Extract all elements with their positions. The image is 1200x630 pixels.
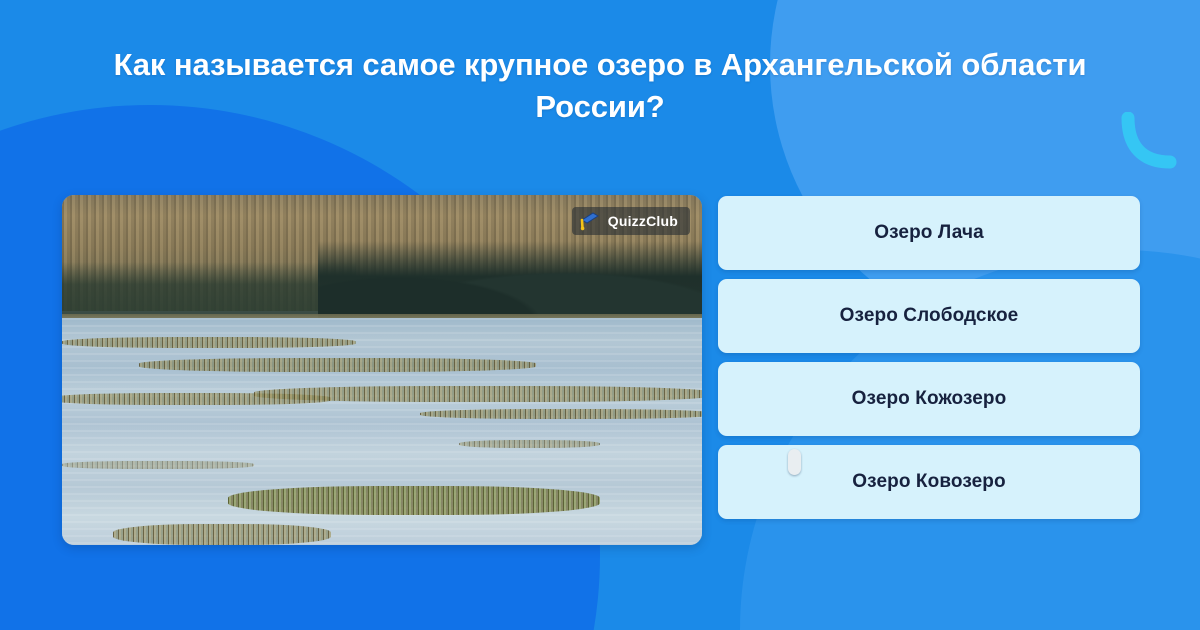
answer-options-list: Озеро Лача Озеро Слободское Озеро Кожозе… xyxy=(718,196,1140,519)
reed-band-foreground xyxy=(113,524,331,545)
reed-band xyxy=(62,461,254,469)
answer-option-4-label: Озеро Ковозеро xyxy=(852,471,1005,493)
conifer-headland xyxy=(318,241,702,325)
reed-band xyxy=(62,337,356,348)
reed-band-foreground xyxy=(228,486,599,516)
answer-option-1-label: Озеро Лача xyxy=(874,222,984,244)
reed-band xyxy=(254,386,702,402)
reed-band xyxy=(459,440,600,448)
conifer-band-left xyxy=(62,262,356,318)
quiz-card: Как называется самое крупное озеро в Арх… xyxy=(0,0,1200,630)
question-title: Как называется самое крупное озеро в Арх… xyxy=(110,44,1090,128)
question-image-card: QuizzClub xyxy=(62,195,702,545)
answer-option-1[interactable]: Озеро Лача xyxy=(718,196,1140,270)
question-header: Как называется самое крупное озеро в Арх… xyxy=(0,44,1200,128)
cursor-pointer-indicator xyxy=(788,449,801,475)
reed-band xyxy=(420,409,702,420)
watermark: QuizzClub xyxy=(572,207,690,235)
graduation-cap-icon xyxy=(578,211,600,231)
reed-band xyxy=(139,358,536,372)
answer-option-3[interactable]: Озеро Кожозеро xyxy=(718,362,1140,436)
watermark-label: QuizzClub xyxy=(608,213,678,229)
lake-landscape-photo xyxy=(62,195,702,545)
answer-option-4[interactable]: Озеро Ковозеро xyxy=(718,445,1140,519)
answer-option-2[interactable]: Озеро Слободское xyxy=(718,279,1140,353)
answer-option-3-label: Озеро Кожозеро xyxy=(852,388,1007,410)
answer-option-2-label: Озеро Слободское xyxy=(840,305,1019,327)
